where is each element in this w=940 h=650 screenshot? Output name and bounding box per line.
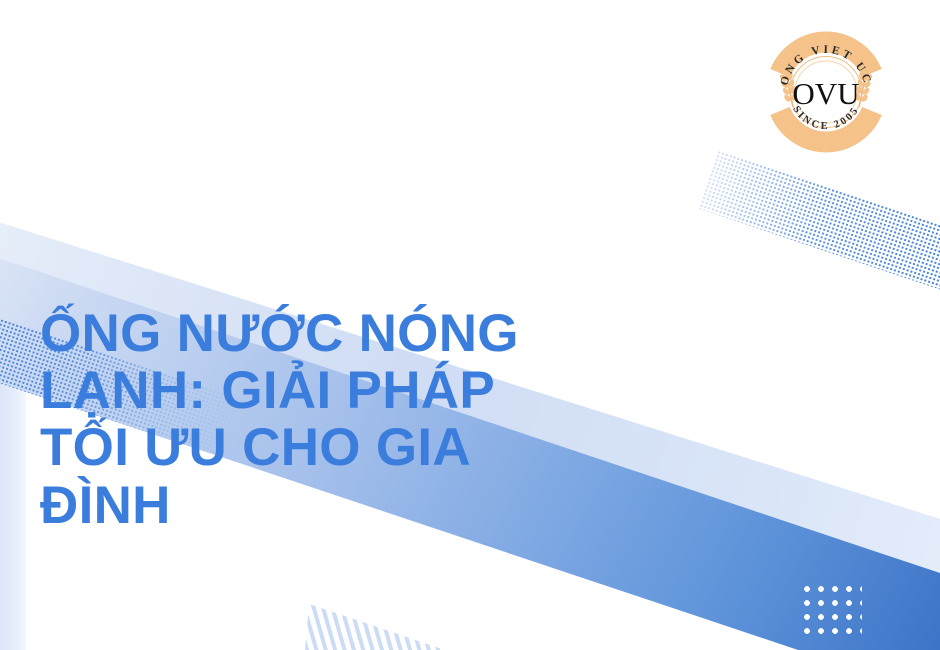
logo-monogram: OVU bbox=[792, 76, 859, 111]
page-title: ỐNG NƯỚC NÓNG LẠNH: GIẢI PHÁP TỐI ƯU CHO… bbox=[40, 305, 580, 534]
ovu-logo: ONG VIET UC SINCE 2005 OVU bbox=[768, 30, 884, 154]
white-dot-grid bbox=[800, 582, 862, 638]
slide-canvas: ONG VIET UC SINCE 2005 OVU ỐNG NƯỚC NÓNG… bbox=[0, 0, 940, 650]
striped-triangle bbox=[305, 604, 445, 650]
